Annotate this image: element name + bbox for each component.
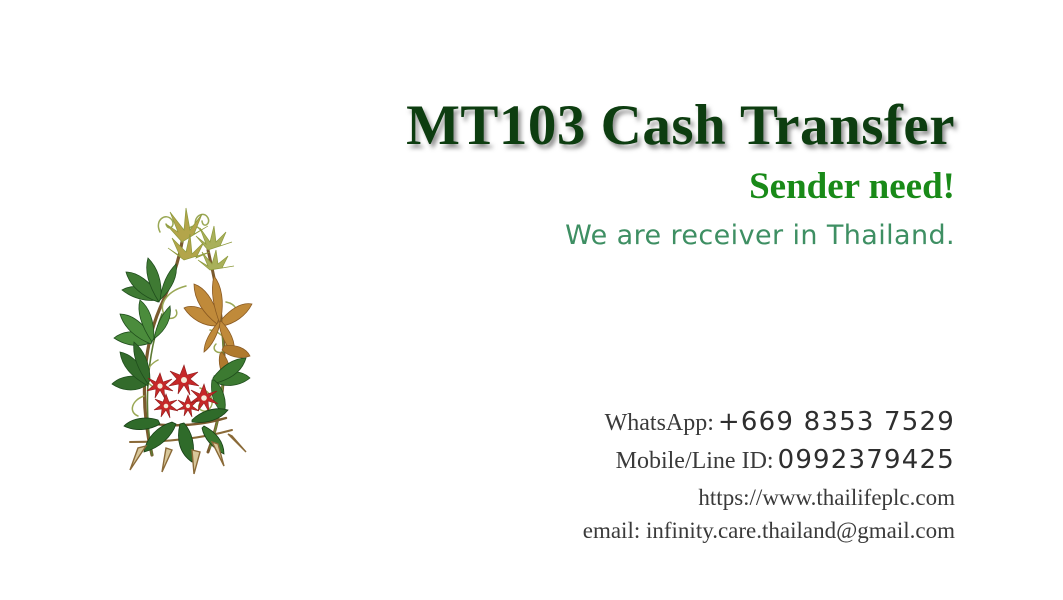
contact-line-mobile: Mobile/Line ID: 0992379425 (300, 443, 955, 481)
contact-line-whatsapp: WhatsApp: +669 8353 7529 (300, 405, 955, 443)
page-subtitle: Sender need! (300, 167, 955, 208)
poster-canvas: MT103 Cash Transfer Sender need! We are … (0, 0, 1063, 600)
mobile-line-id-label: Mobile/Line ID: (616, 448, 774, 474)
mobile-line-id-number[interactable]: 0992379425 (778, 445, 955, 475)
heading-block: MT103 Cash Transfer Sender need! We are … (300, 96, 955, 251)
whatsapp-label: WhatsApp: (605, 410, 714, 436)
email-label: email: (583, 518, 640, 543)
contact-block: WhatsApp: +669 8353 7529 Mobile/Line ID:… (300, 405, 955, 547)
email-address[interactable]: infinity.care.thailand@gmail.com (646, 518, 955, 543)
contact-line-email: email: infinity.care.thailand@gmail.com (300, 514, 955, 547)
page-tagline: We are receiver in Thailand. (300, 220, 955, 251)
floral-vine-wreath-illustration (100, 190, 260, 475)
illustration-green-leaves (112, 258, 176, 390)
page-title: MT103 Cash Transfer (300, 96, 955, 156)
whatsapp-number[interactable]: +669 8353 7529 (718, 407, 955, 437)
website-url[interactable]: https://www.thailifeplc.com (300, 481, 955, 514)
illustration-right-leaves (212, 358, 251, 414)
